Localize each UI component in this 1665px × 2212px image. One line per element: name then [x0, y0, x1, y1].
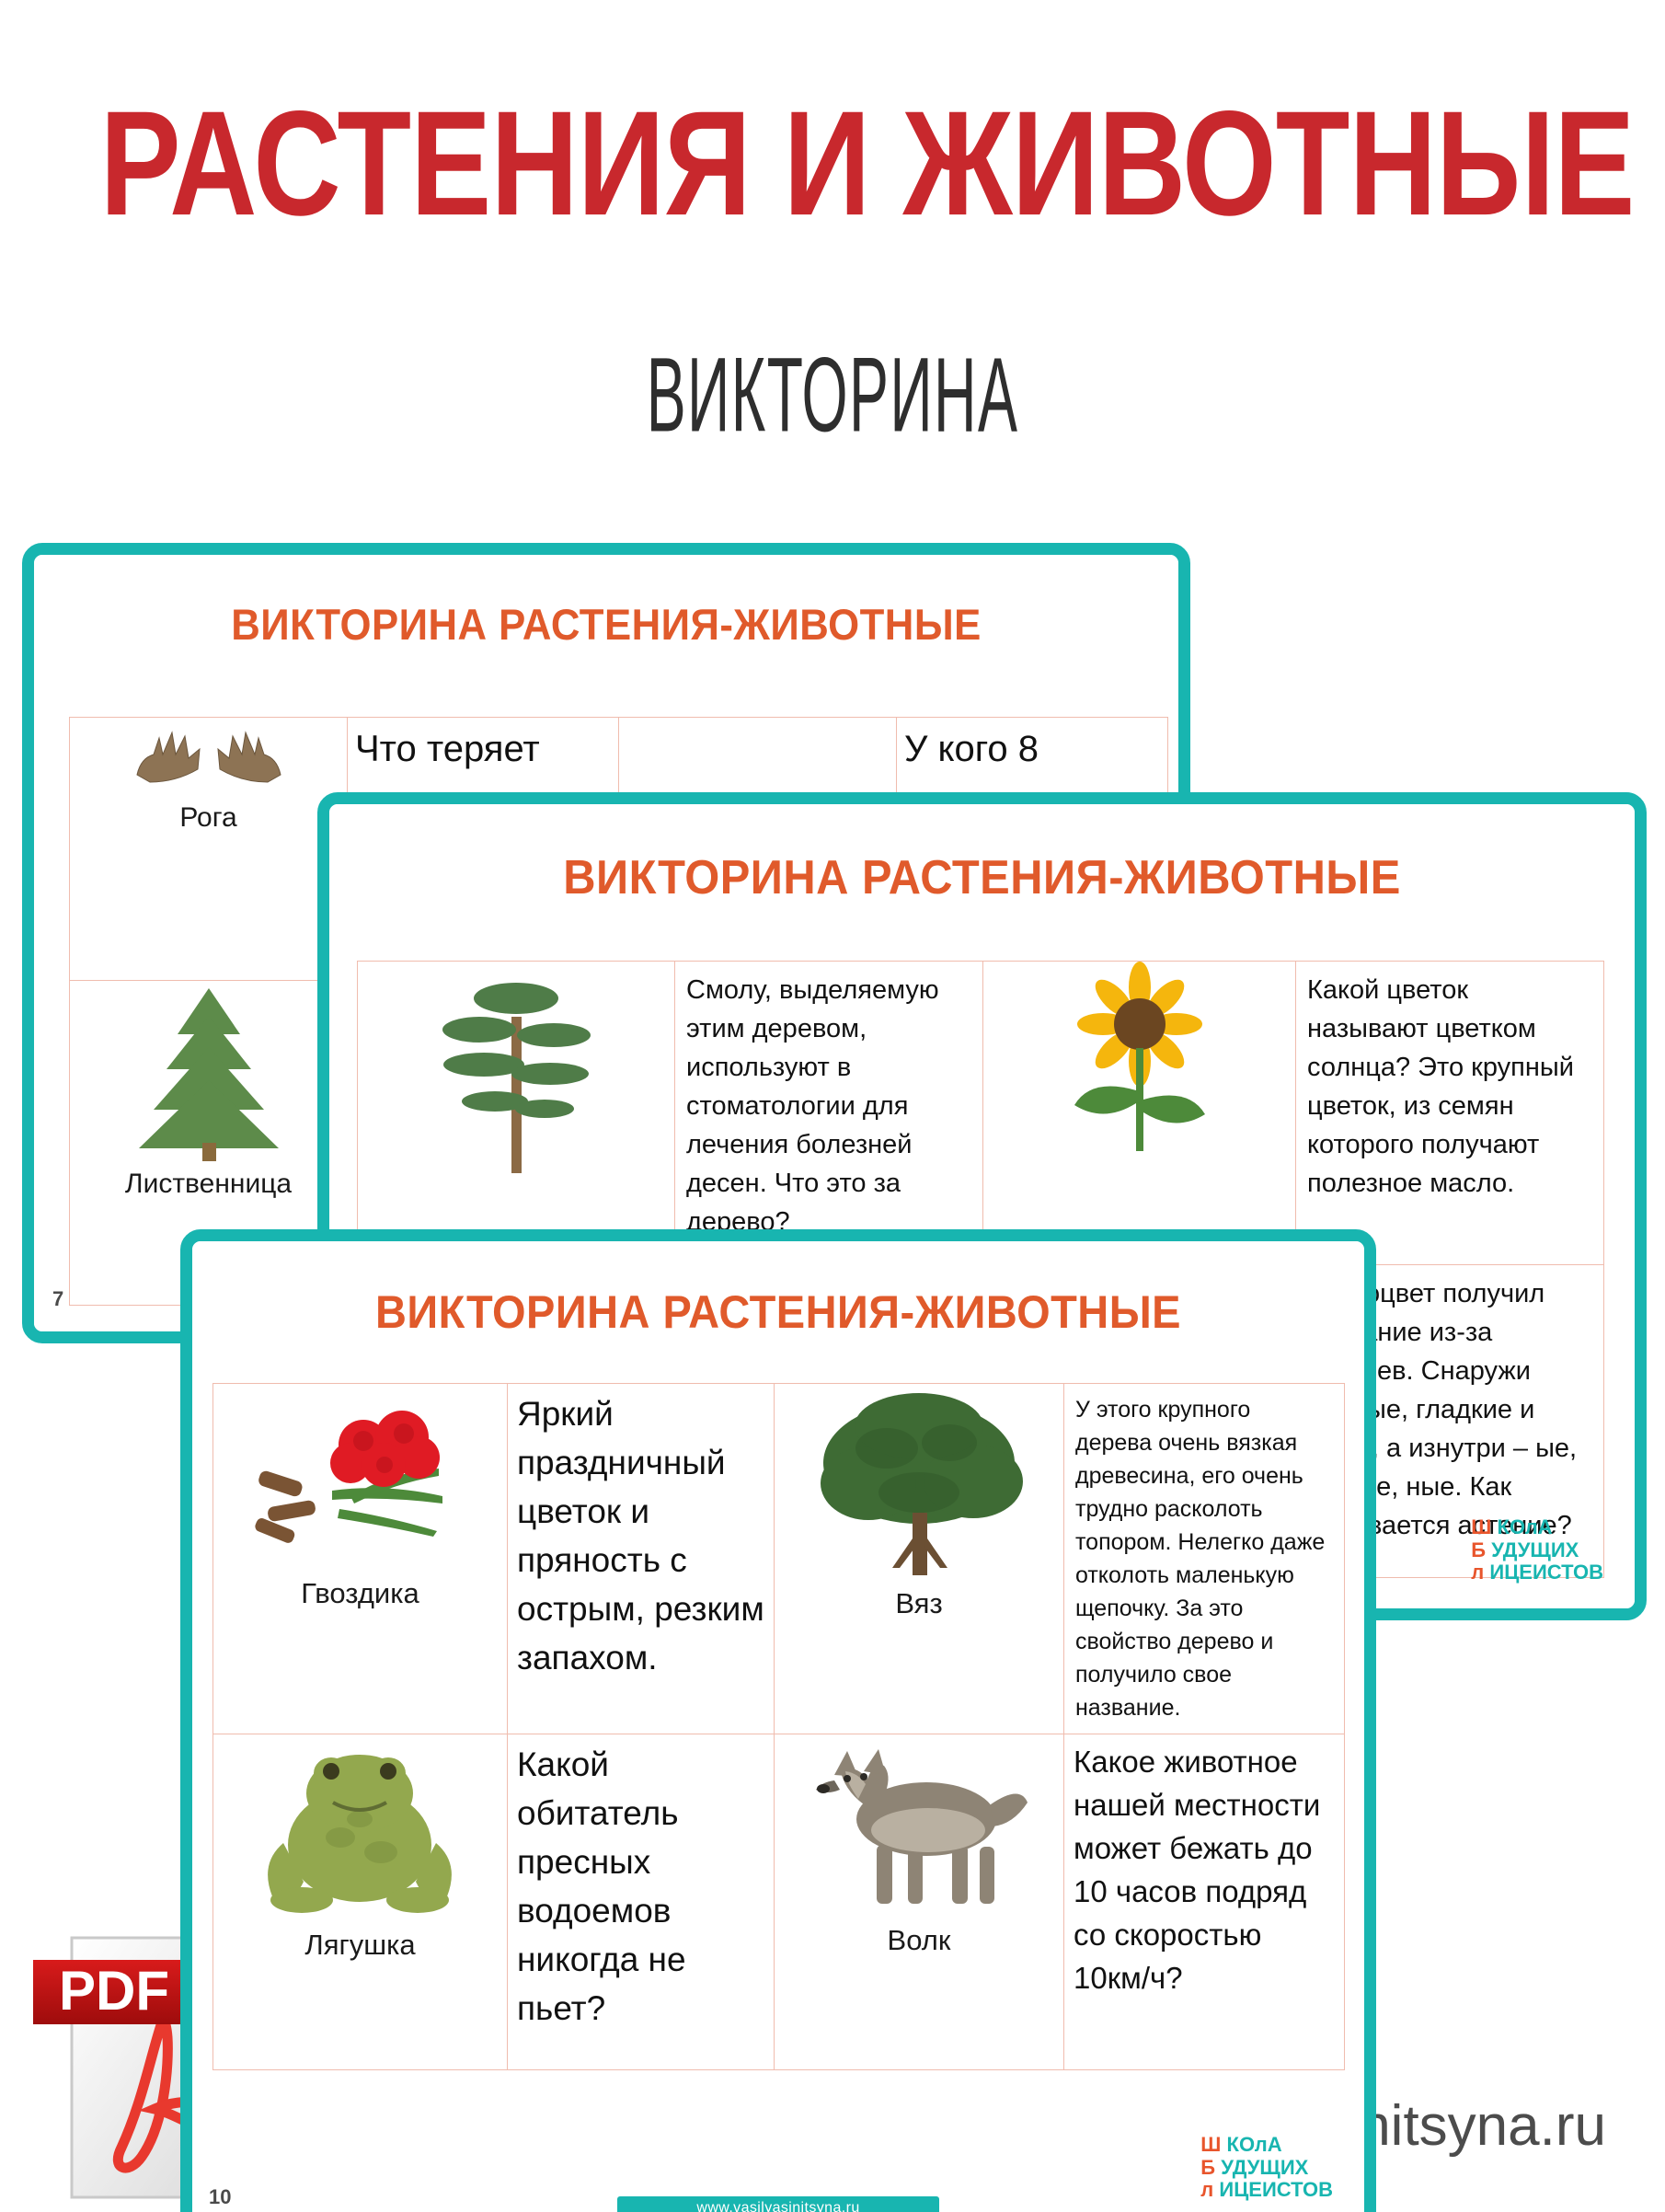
- logo-line-1: Ш КОлА: [1200, 2134, 1333, 2157]
- table-row: Лягушка Какой обитатель пресных водоемов…: [213, 1734, 1345, 2070]
- image-caption: Лиственница: [70, 1169, 347, 1200]
- image-caption: Волк: [775, 1924, 1063, 1957]
- pine-tree-image: [429, 962, 603, 1182]
- cell-image-antlers: Рога: [70, 718, 348, 981]
- logo-line-1: Ш КОлА: [1471, 1516, 1603, 1539]
- pdf-badge-label: PDF: [59, 1960, 169, 2022]
- cell-image-elm: Вяз: [775, 1384, 1064, 1734]
- cell-image-wolf: Волк: [775, 1734, 1064, 2070]
- logo-rest-2: УДУЩИХ: [1491, 1538, 1579, 1561]
- image-caption: Рога: [70, 802, 347, 834]
- logo-rest-3: ИЦЕИСТОВ: [1219, 2178, 1333, 2201]
- sunflower-image: [1043, 962, 1236, 1159]
- image-caption: Вяз: [775, 1587, 1063, 1620]
- site-url-chip[interactable]: www.vasilyasinitsyna.ru: [617, 2196, 939, 2212]
- logo-line-3: л ИЦЕИСТОВ: [1471, 1561, 1603, 1584]
- card-body: ВИКТОРИНА РАСТЕНИЯ-ЖИВОТНЫЕ: [192, 1241, 1364, 2212]
- card-header-title: ВИКТОРИНА РАСТЕНИЯ-ЖИВОТНЫЕ: [227, 1285, 1329, 1339]
- elm-tree-image: [811, 1384, 1028, 1582]
- logo-rest-3: ИЦЕИСТОВ: [1489, 1561, 1603, 1584]
- cell-image-pine: [358, 962, 675, 1265]
- logo-line-2: Б УДУЩИХ: [1471, 1539, 1603, 1562]
- wolf-image: [807, 1734, 1032, 1918]
- page-number: 10: [209, 2185, 231, 2209]
- logo-rest-2: УДУЩИХ: [1221, 2156, 1308, 2179]
- logo-initial-sh: Ш: [1200, 2133, 1221, 2156]
- card-header-title: ВИКТОРИНА РАСТЕНИЯ-ЖИВОТНЫЕ: [75, 599, 1139, 650]
- table-row: Смолу, выделяемую этим деревом, использу…: [358, 962, 1604, 1265]
- cell-image-sunflower: [983, 962, 1296, 1265]
- logo-line-2: Б УДУЩИХ: [1200, 2157, 1333, 2180]
- cell-image-frog: Лягушка: [213, 1734, 508, 2070]
- cell-question-2: У этого крупного дерева очень вязкая дре…: [1064, 1384, 1345, 1734]
- cell-question-1: Смолу, выделяемую этим деревом, использу…: [675, 962, 983, 1265]
- logo-initial-b: Б: [1200, 2156, 1215, 2179]
- card-header-title: ВИКТОРИНА РАСТЕНИЯ-ЖИВОТНЫЕ: [369, 850, 1596, 905]
- quiz-table: Гвоздика Яркий праздничный цветок и прян…: [212, 1383, 1345, 2070]
- logo-line-3: л ИЦЕИСТОВ: [1200, 2179, 1333, 2202]
- school-logo: Ш КОлА Б УДУЩИХ л ИЦЕИСТОВ: [1471, 1516, 1603, 1584]
- poster-canvas: РАСТЕНИЯ И ЖИВОТНЫЕ ВИКТОРИНА ВИКТОРИНА …: [0, 0, 1665, 2212]
- logo-initial-sh: Ш: [1471, 1515, 1491, 1538]
- page-title: РАСТЕНИЯ И ЖИВОТНЫЕ: [100, 88, 1566, 237]
- image-caption: Гвоздика: [213, 1577, 507, 1610]
- logo-initial-l: л: [1200, 2178, 1213, 2201]
- logo-rest-1: КОлА: [1498, 1515, 1553, 1538]
- logo-initial-l: л: [1471, 1561, 1484, 1584]
- cell-question-3: Какой обитатель пресных водоемов никогда…: [508, 1734, 775, 2070]
- antlers-image: [132, 718, 286, 789]
- carnation-image: [247, 1384, 473, 1568]
- logo-initial-b: Б: [1471, 1538, 1486, 1561]
- school-logo: Ш КОлА Б УДУЩИХ л ИЦЕИСТОВ: [1200, 2134, 1333, 2202]
- image-caption: Лягушка: [213, 1929, 507, 1962]
- cell-image-carnation: Гвоздика: [213, 1384, 508, 1734]
- cell-question-4: Какое животное нашей местности может беж…: [1064, 1734, 1345, 2070]
- cell-question-2: Какой цветок называют цветком солнца? Эт…: [1296, 962, 1604, 1265]
- frog-image: [252, 1734, 468, 1923]
- page-subtitle: ВИКТОРИНА: [250, 342, 1416, 448]
- logo-rest-1: КОлА: [1227, 2133, 1282, 2156]
- page-number: 7: [52, 1287, 63, 1311]
- quiz-card-front[interactable]: ВИКТОРИНА РАСТЕНИЯ-ЖИВОТНЫЕ: [180, 1229, 1376, 2212]
- fir-tree-image: [126, 981, 292, 1163]
- table-row: Гвоздика Яркий праздничный цветок и прян…: [213, 1384, 1345, 1734]
- cell-question-1: Яркий праздничный цветок и пряность с ос…: [508, 1384, 775, 1734]
